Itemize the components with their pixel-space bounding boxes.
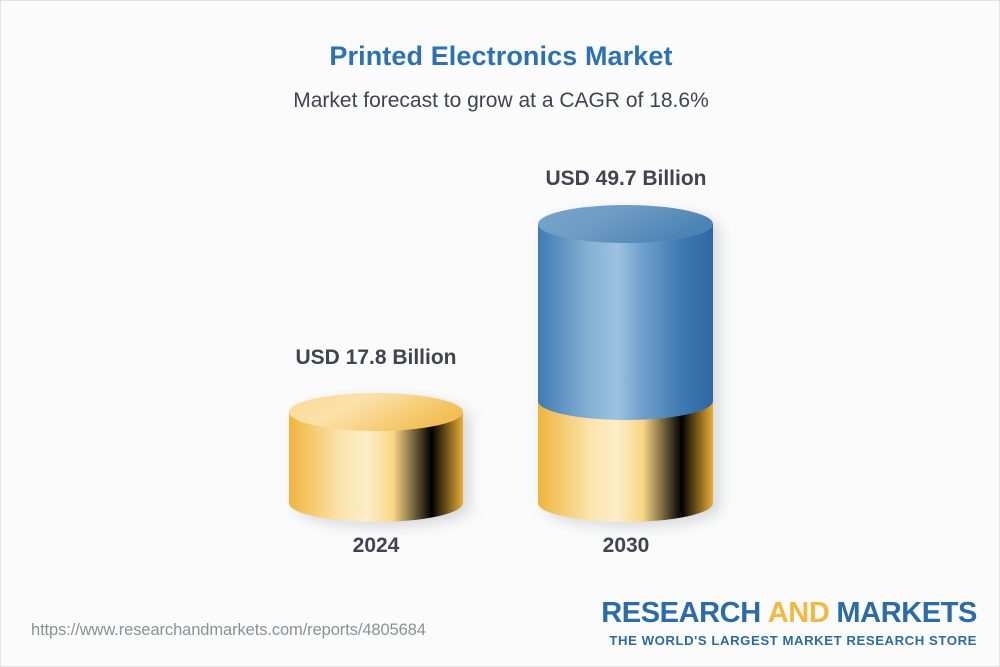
- logo-tagline: THE WORLD'S LARGEST MARKET RESEARCH STOR…: [601, 634, 977, 647]
- logo-word-and: AND: [768, 597, 830, 629]
- bar-2030-top: [538, 205, 713, 243]
- bar-2024-top: [289, 393, 463, 431]
- bar-2030: [538, 205, 713, 522]
- logo-word-markets: MARKETS: [836, 597, 977, 629]
- source-url[interactable]: https://www.researchandmarkets.com/repor…: [31, 621, 426, 640]
- chart-canvas: Printed Electronics Market Market foreca…: [0, 0, 1000, 667]
- value-label-2024: USD 17.8 Billion: [231, 346, 521, 370]
- bar-2030-growth-body: [538, 224, 713, 420]
- logo-wordmark: RESEARCHANDMARKETS: [601, 599, 977, 628]
- brand-logo[interactable]: RESEARCHANDMARKETS THE WORLD'S LARGEST M…: [601, 599, 977, 647]
- bar-2024: [289, 393, 463, 522]
- category-label-2030: 2030: [526, 534, 726, 558]
- plot-area: USD 17.8 Billion USD 49.7 Billion 2024 2…: [1, 1, 1000, 601]
- cylinder-chart-svg: [1, 1, 1000, 601]
- value-label-2030: USD 49.7 Billion: [481, 167, 771, 191]
- category-label-2024: 2024: [276, 534, 476, 558]
- logo-word-research: RESEARCH: [601, 597, 761, 629]
